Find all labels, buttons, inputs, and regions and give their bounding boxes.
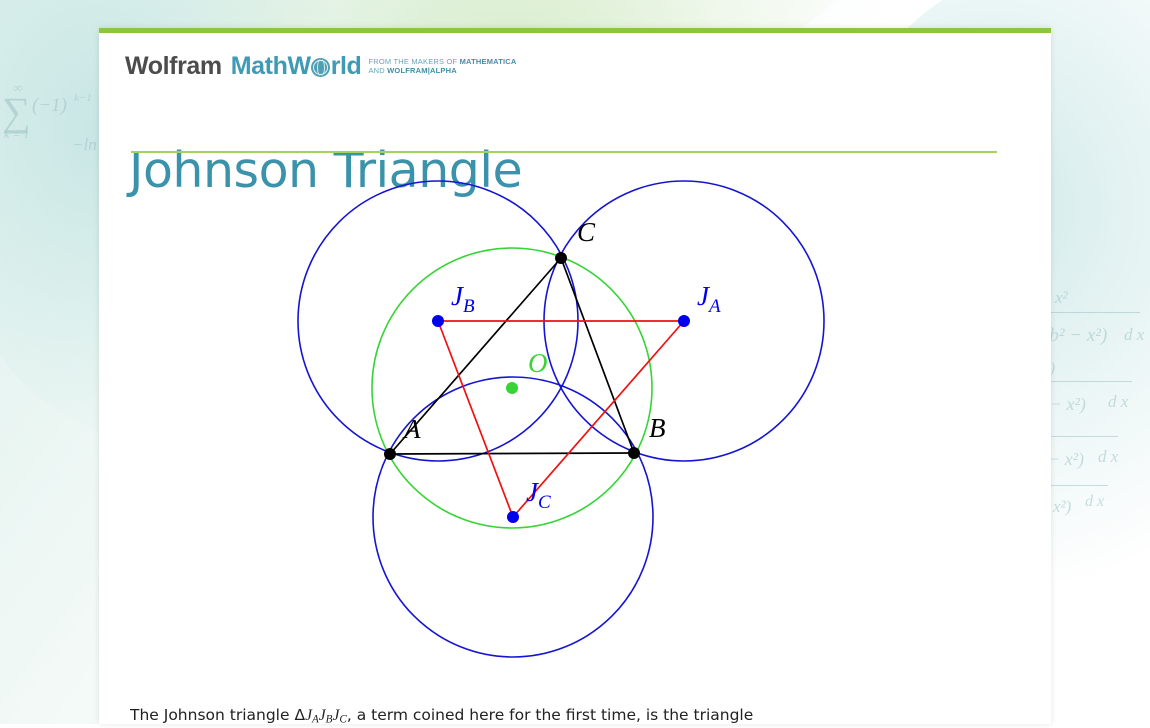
johnson-triangle-figure: ABCJAJBJCO	[99, 168, 1051, 688]
point-JC	[507, 511, 519, 523]
logo-tagline-line-2: AND WOLFRAM|ALPHA	[368, 66, 516, 75]
label-C: C	[577, 217, 596, 247]
side-BC	[561, 258, 634, 453]
label-JC-subscript: C	[538, 492, 551, 513]
label-JC: JC	[526, 477, 551, 513]
logo-tagline: FROM THE MAKERS OF MATHEMATICA AND WOLFR…	[368, 57, 516, 76]
body-lead: The Johnson triangle	[130, 706, 294, 724]
label-A: A	[402, 414, 421, 444]
label-JA: JA	[697, 281, 721, 317]
tagline-prefix-2: AND	[368, 66, 387, 75]
tagline-prefix-1: FROM THE MAKERS OF	[368, 57, 459, 66]
logo-wolfram-text: Wolfram	[125, 54, 222, 79]
tagline-mathematica: MATHEMATICA	[460, 57, 517, 66]
body-rest: , a term coined here for the first time,…	[347, 706, 753, 724]
jside-JBJC	[438, 321, 513, 517]
point-C	[555, 252, 567, 264]
logo-tagline-line-1: FROM THE MAKERS OF MATHEMATICA	[368, 57, 516, 66]
logo-mathworld-text: MathWrld	[231, 54, 362, 79]
label-O: O	[528, 348, 548, 378]
title-divider-rule	[131, 151, 997, 153]
label-JA-subscript: A	[707, 296, 721, 317]
label-JB: JB	[451, 281, 475, 317]
body-jb: J	[319, 707, 326, 724]
point-A	[384, 448, 396, 460]
label-B: B	[649, 413, 666, 443]
card-top-accent-bar	[99, 28, 1051, 33]
body-ja: J	[305, 707, 312, 724]
logo-world-prefix: W	[287, 54, 310, 79]
body-paragraph: The Johnson triangle ΔJAJBJC, a term coi…	[130, 704, 1010, 728]
logo-world-suffix: rld	[331, 54, 362, 79]
point-JB	[432, 315, 444, 327]
content-card: Wolfram MathWrld FROM THE MAKERS OF MATH…	[99, 28, 1051, 724]
label-JB-subscript: B	[463, 296, 475, 317]
point-JA	[678, 315, 690, 327]
site-logo[interactable]: Wolfram MathWrld FROM THE MAKERS OF MATH…	[125, 54, 517, 79]
logo-math-text: Math	[231, 54, 288, 79]
side-AB	[390, 453, 634, 454]
body-delta: Δ	[294, 706, 305, 724]
tagline-wolframalpha: WOLFRAM|ALPHA	[387, 66, 457, 75]
globe-icon	[311, 58, 330, 77]
point-O	[506, 382, 518, 394]
point-B	[628, 447, 640, 459]
